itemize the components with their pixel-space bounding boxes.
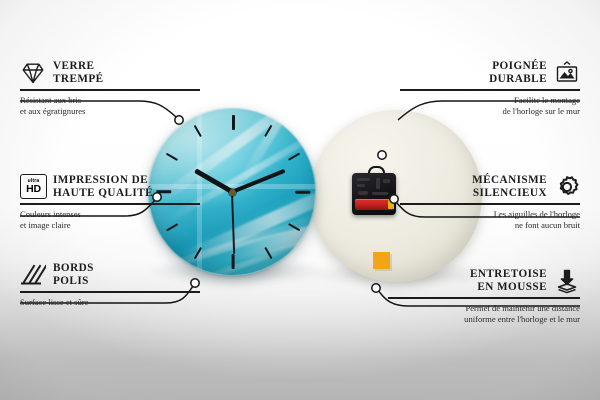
callout-title: POIGNÉEDURABLE xyxy=(489,60,547,86)
ultra-hd-bottom-label: HD xyxy=(26,184,41,195)
divider xyxy=(20,203,200,205)
divider xyxy=(20,291,200,293)
callout-title: MÉCANISMESILENCIEUX xyxy=(472,174,547,200)
diamond-icon xyxy=(20,60,46,86)
callout-title: ENTRETOISEEN MOUSSE xyxy=(470,268,547,294)
gear-icon xyxy=(554,174,580,200)
divider xyxy=(20,89,200,91)
callout-description: Couleurs intenseset image claire xyxy=(20,209,200,230)
divider xyxy=(400,203,580,205)
callout-impression-haute-qualite[interactable]: ultra HD IMPRESSION DEHAUTE QUALITÉ Coul… xyxy=(20,174,200,230)
callout-verre-trempe[interactable]: VERRETREMPÉ Résistant aux briset aux égr… xyxy=(20,60,200,116)
callout-title: BORDSPOLIS xyxy=(53,262,94,288)
callout-description: Résistant aux briset aux égratignures xyxy=(20,95,200,116)
callout-description: Facilite le montagede l'horloge sur le m… xyxy=(400,95,580,116)
callout-poignee-durable[interactable]: POIGNÉEDURABLE Facilite le montagede l'h… xyxy=(400,60,580,116)
picture-hanger-icon xyxy=(554,60,580,86)
callout-description: Les aiguilles de l'horlogene font aucun … xyxy=(400,209,580,230)
divider xyxy=(388,297,580,299)
divider xyxy=(400,89,580,91)
battery-terminal xyxy=(388,200,394,209)
callout-title: IMPRESSION DEHAUTE QUALITÉ xyxy=(53,174,153,200)
callout-mecanisme-silencieux[interactable]: MÉCANISMESILENCIEUX Les aiguilles de l'h… xyxy=(400,174,580,230)
callout-description: Permet de maintenir une distanceuniforme… xyxy=(388,303,580,324)
foam-spacer xyxy=(373,252,390,269)
ultra-hd-icon: ultra HD xyxy=(20,174,46,200)
down-arrow-layers-icon xyxy=(554,268,580,294)
callout-title: VERRETREMPÉ xyxy=(53,60,104,86)
callout-entretoise-en-mousse[interactable]: ENTRETOISEEN MOUSSE Permet de maintenir … xyxy=(388,268,580,324)
infographic-canvas: VERRETREMPÉ Résistant aux briset aux égr… xyxy=(0,0,600,400)
diagonal-lines-icon xyxy=(20,262,46,288)
callout-bords-polis[interactable]: BORDSPOLIS Surface lisse et sûre xyxy=(20,262,200,308)
callout-description: Surface lisse et sûre xyxy=(20,297,200,308)
